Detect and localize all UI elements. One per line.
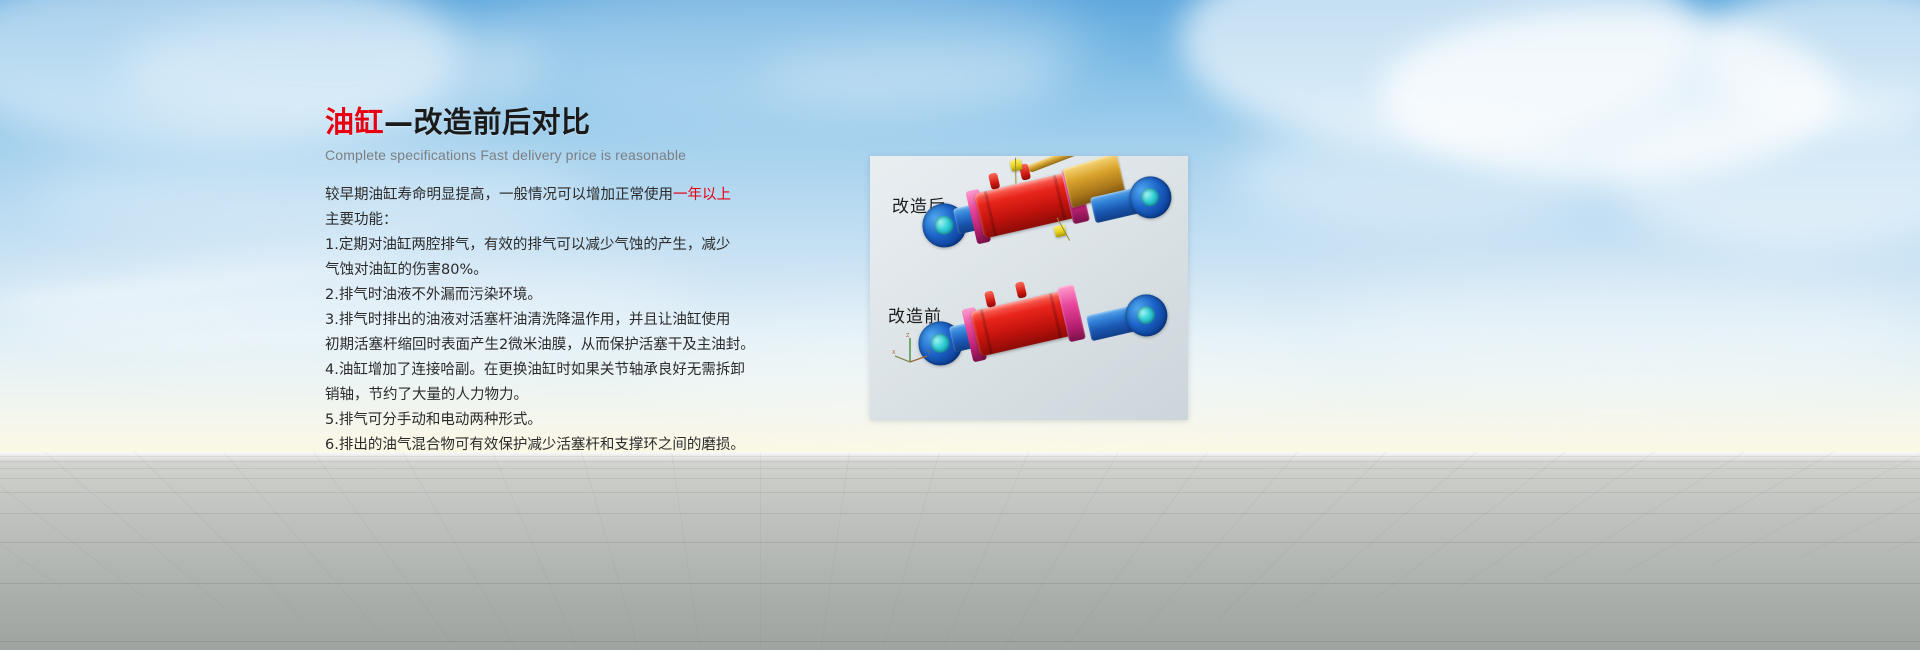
body-line: 6.排出的油气混合物可有效保护减少活塞杆和支撑环之间的磨损。 bbox=[325, 433, 755, 458]
body-line: 较早期油缸寿命明显提高，一般情况可以增加正常使用一年以上 bbox=[325, 183, 755, 208]
cylinder-port-pin bbox=[988, 172, 1000, 190]
product-image-panel: 改造后 改造前 bbox=[870, 156, 1188, 420]
cylinder-eye-right bbox=[1121, 290, 1171, 340]
pavement-seam-vertical bbox=[1296, 452, 1477, 608]
axis-triad-icon: Z X Y bbox=[892, 332, 932, 366]
body-line-text: 3.排气时排出的油液对活塞杆油清洗降温作用，并且让油缸使用 bbox=[325, 312, 730, 328]
pavement-seam-vertical bbox=[0, 452, 62, 588]
body-line: 销轴，节约了大量的人力物力。 bbox=[325, 383, 755, 408]
cloud-shape bbox=[1180, 0, 1700, 150]
body-line: 主要功能： bbox=[325, 208, 755, 233]
body-copy: 较早期油缸寿命明显提高，一般情况可以增加正常使用一年以上主要功能：1.定期对油缸… bbox=[325, 183, 755, 458]
pavement-seam-vertical bbox=[934, 452, 1029, 650]
pavement-seam bbox=[0, 468, 1920, 469]
pavement-seam-vertical bbox=[873, 452, 940, 650]
pavement-seam-vertical bbox=[134, 452, 304, 620]
body-line-highlight: 一年以上 bbox=[673, 187, 731, 203]
body-line-text: 4.油缸增加了连接哈副。在更换油缸时如果关节轴承良好无需拆卸 bbox=[325, 362, 745, 378]
body-line-text: 6.排出的油气混合物可有效保护减少活塞杆和支撑环之间的磨损。 bbox=[325, 437, 745, 453]
svg-text:Y: Y bbox=[926, 350, 931, 356]
body-line: 气蚀对油缸的伤害80%。 bbox=[325, 258, 755, 283]
pavement-seam-vertical bbox=[313, 452, 453, 645]
body-line: 3.排气时排出的油液对活塞杆油清洗降温作用，并且让油缸使用 bbox=[325, 308, 755, 333]
ground-pavement bbox=[0, 452, 1920, 650]
cloud-shape bbox=[1600, 90, 1920, 250]
body-line-text: 2.排气时油液不外漏而污染环境。 bbox=[325, 287, 542, 303]
cloud-shape bbox=[1320, 270, 1920, 390]
cloud-shape bbox=[1380, 10, 1840, 180]
title-highlight: 油缸 bbox=[325, 105, 384, 139]
pavement-seam-vertical bbox=[45, 452, 226, 608]
pavement-seam bbox=[0, 513, 1920, 514]
pavement-seam bbox=[0, 456, 1920, 457]
text-block: 油缸—改造前后对比 Complete specifications Fast d… bbox=[325, 104, 755, 458]
body-line-text: 主要功能： bbox=[325, 212, 398, 228]
pavement-seam-vertical bbox=[0, 452, 144, 598]
body-line: 1.定期对油缸两腔排气，有效的排气可以减少气蚀的产生，减少 bbox=[325, 233, 755, 258]
body-line-text: 气蚀对油缸的伤害80%。 bbox=[325, 262, 488, 278]
body-line: 4.油缸增加了连接哈副。在更换油缸时如果关节轴承良好无需拆卸 bbox=[325, 358, 755, 383]
cloud-shape bbox=[760, 40, 1060, 110]
pavement-seam bbox=[0, 478, 1920, 479]
pavement-seam bbox=[0, 583, 1920, 584]
pavement-seam-vertical bbox=[492, 452, 587, 650]
cylinder-port-pin bbox=[1015, 281, 1027, 299]
promo-banner: 油缸—改造前后对比 Complete specifications Fast d… bbox=[0, 0, 1920, 650]
svg-text:Z: Z bbox=[906, 333, 910, 339]
pavement-seam-vertical bbox=[581, 452, 648, 650]
page-title: 油缸—改造前后对比 bbox=[325, 104, 755, 140]
title-rest: —改造前后对比 bbox=[384, 105, 591, 139]
body-line: 初期活塞杆缩回时表面产生2微米油膜，从而保护活塞干及主油封。 bbox=[325, 333, 755, 358]
pavement-seam-vertical bbox=[1377, 452, 1566, 598]
pavement-seam bbox=[0, 542, 1920, 543]
body-line-text: 销轴，节约了大量的人力物力。 bbox=[325, 387, 528, 403]
body-line: 5.排气可分手动和电动两种形式。 bbox=[325, 408, 755, 433]
svg-text:X: X bbox=[892, 350, 896, 356]
body-line-text: 1.定期对油缸两腔排气，有效的排气可以减少气蚀的产生，减少 bbox=[325, 237, 730, 253]
pavement-seam-vertical bbox=[1886, 452, 1920, 552]
pavement-seam-vertical bbox=[1459, 452, 1655, 588]
body-line-text: 较早期油缸寿命明显提高，一般情况可以增加正常使用 bbox=[325, 187, 673, 203]
cloud-shape bbox=[1230, 120, 1610, 230]
body-line: 2.排气时油液不外漏而污染环境。 bbox=[325, 283, 755, 308]
pavement-seam bbox=[0, 492, 1920, 493]
pavement-seam-vertical bbox=[815, 452, 850, 650]
page-subtitle: Complete specifications Fast delivery pr… bbox=[325, 147, 755, 163]
cylinder-eye-right bbox=[1125, 172, 1175, 222]
body-line-text: 5.排气可分手动和电动两种形式。 bbox=[325, 412, 542, 428]
cloud-shape bbox=[470, 0, 1090, 120]
cylinder-port-pin bbox=[984, 290, 996, 308]
body-line-text: 初期活塞杆缩回时表面产生2微米油膜，从而保护活塞干及主油封。 bbox=[325, 337, 755, 353]
pavement-seam-vertical bbox=[760, 452, 761, 650]
pavement-seam bbox=[0, 461, 1920, 462]
pavement-seam-vertical bbox=[999, 452, 1119, 650]
pavement-seam-vertical bbox=[671, 452, 706, 650]
cloud-shape bbox=[1700, 0, 1920, 130]
pavement-seam-vertical bbox=[1217, 452, 1387, 620]
pavement-seam bbox=[0, 641, 1920, 642]
pavement-seam-vertical bbox=[1068, 452, 1208, 645]
